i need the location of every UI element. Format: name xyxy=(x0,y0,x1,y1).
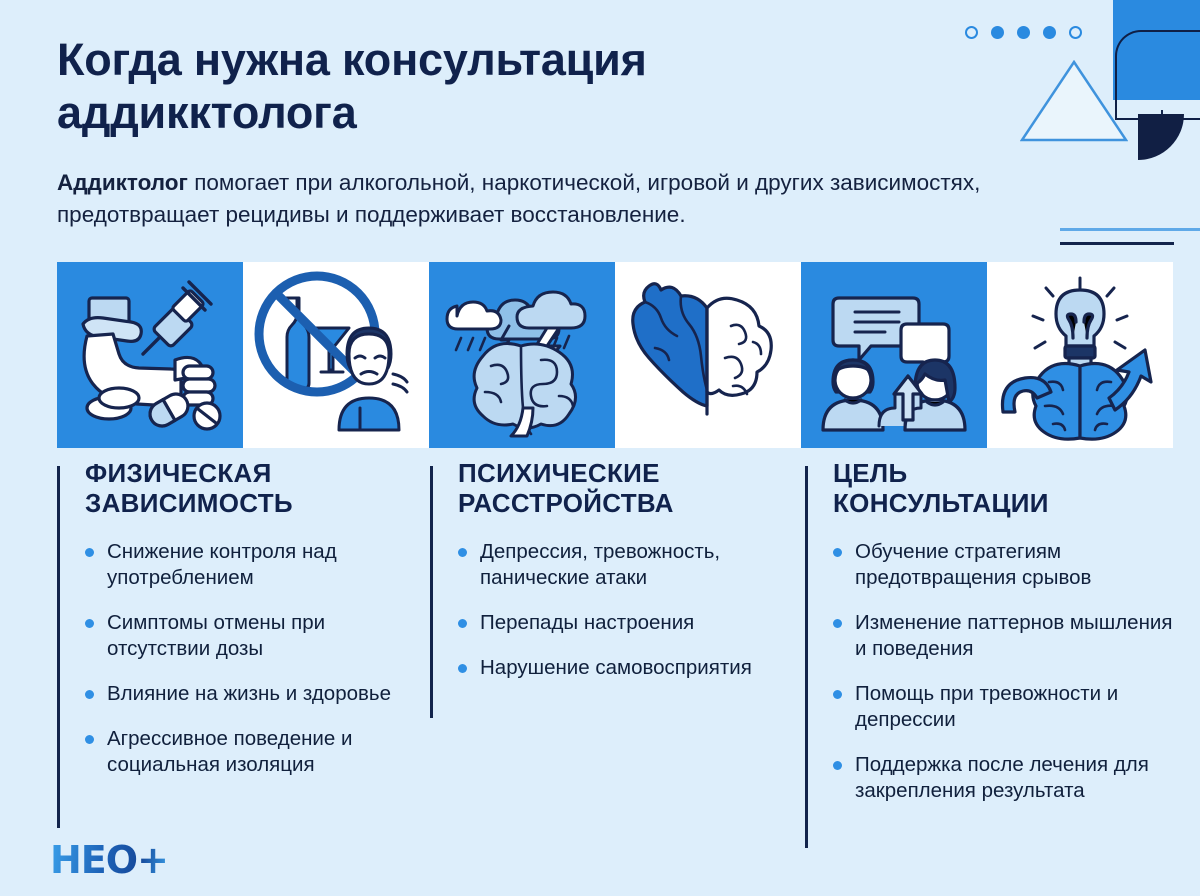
column-1: ФИЗИЧЕСКАЯЗАВИСИМОСТЬСнижение контроля н… xyxy=(57,458,417,797)
subtitle-text: помогает при алкогольной, наркотической,… xyxy=(57,170,980,227)
illustration-band xyxy=(0,262,1200,448)
list-item: Изменение паттернов мышления и поведения xyxy=(833,610,1175,662)
column-heading: ПСИХИЧЕСКИЕРАССТРОЙСТВА xyxy=(458,458,790,519)
no-alcohol-sad-person-icon xyxy=(243,262,429,448)
tile-no-alcohol-sad-person xyxy=(243,262,429,448)
column-bullet-list: Обучение стратегиям предотвращения срыво… xyxy=(833,539,1175,804)
decor-dot-4 xyxy=(1043,26,1056,39)
page-title-line-1: Когда нужна консультация xyxy=(57,34,957,87)
column-heading-line-1: ФИЗИЧЕСКАЯ xyxy=(85,458,417,488)
list-item: Поддержка после лечения для закрепления … xyxy=(833,752,1175,804)
column-divider-line xyxy=(57,466,60,828)
tile-arm-syringe-pills xyxy=(57,262,243,448)
decor-dot-5 xyxy=(1069,26,1082,39)
list-item: Перепады настроения xyxy=(458,610,790,636)
column-heading-line-2: КОНСУЛЬТАЦИИ xyxy=(833,488,1175,518)
brand-logo[interactable]: НЕО+ xyxy=(50,838,168,882)
decor-dot-3 xyxy=(1017,26,1030,39)
list-item: Депрессия, тревожность, панические атаки xyxy=(458,539,790,591)
column-body: ЦЕЛЬКОНСУЛЬТАЦИИОбучение стратегиям пред… xyxy=(805,458,1175,804)
quarter-circle-stem-decor xyxy=(1161,110,1163,135)
subtitle-keyword: Аддиктолог xyxy=(57,170,188,195)
column-heading: ФИЗИЧЕСКАЯЗАВИСИМОСТЬ xyxy=(85,458,417,519)
list-item: Помощь при тревожности и депрессии xyxy=(833,681,1175,733)
arm-syringe-pills-icon xyxy=(57,262,243,448)
list-item: Нарушение самовосприятия xyxy=(458,655,790,681)
dots-decor xyxy=(965,26,1082,39)
dark-rule-decor xyxy=(1060,242,1174,245)
column-2: ПСИХИЧЕСКИЕРАССТРОЙСТВАДепрессия, тревож… xyxy=(430,458,790,700)
tile-brain-lightbulb xyxy=(987,262,1173,448)
people-dialogue-arrow-icon xyxy=(801,262,987,448)
rounded-card-outline-decor xyxy=(1115,30,1200,120)
page-title-line-2: аддикктолога xyxy=(57,87,957,140)
column-heading: ЦЕЛЬКОНСУЛЬТАЦИИ xyxy=(833,458,1175,519)
blue-square-decor xyxy=(1113,0,1200,100)
column-bullet-list: Депрессия, тревожность, панические атаки… xyxy=(458,539,790,681)
page-header: Когда нужна консультация аддикктолога xyxy=(57,34,957,139)
tile-heart-brain xyxy=(615,262,801,448)
brain-lightbulb-arrows-icon xyxy=(987,262,1173,448)
list-item: Агрессивное поведение и социальная изоля… xyxy=(85,726,417,778)
tile-people-dialogue xyxy=(801,262,987,448)
column-3: ЦЕЛЬКОНСУЛЬТАЦИИОбучение стратегиям пред… xyxy=(805,458,1175,823)
navy-quarter-circle-decor xyxy=(1138,114,1184,160)
list-item: Обучение стратегиям предотвращения срыво… xyxy=(833,539,1175,591)
list-item: Влияние на жизнь и здоровье xyxy=(85,681,417,707)
decor-dot-2 xyxy=(991,26,1004,39)
list-item: Симптомы отмены при отсутствии дозы xyxy=(85,610,417,662)
column-heading-line-2: РАССТРОЙСТВА xyxy=(458,488,790,518)
column-bullet-list: Снижение контроля над употреблениемСимпт… xyxy=(85,539,417,778)
column-body: ФИЗИЧЕСКАЯЗАВИСИМОСТЬСнижение контроля н… xyxy=(57,458,417,778)
triangle-outline-decor xyxy=(1020,60,1128,142)
column-heading-line-2: ЗАВИСИМОСТЬ xyxy=(85,488,417,518)
page-title: Когда нужна консультация аддикктолога xyxy=(57,34,957,139)
column-heading-line-1: ЦЕЛЬ xyxy=(833,458,1175,488)
column-divider-line xyxy=(805,466,808,848)
list-item: Снижение контроля над употреблением xyxy=(85,539,417,591)
storm-cloud-brain-icon xyxy=(429,262,615,448)
tile-storm-brain xyxy=(429,262,615,448)
heart-brain-icon xyxy=(615,262,801,448)
column-divider-line xyxy=(430,466,433,718)
decor-dot-1 xyxy=(965,26,978,39)
page-subtitle: Аддиктолог помогает при алкогольной, нар… xyxy=(57,167,1117,231)
column-heading-line-1: ПСИХИЧЕСКИЕ xyxy=(458,458,790,488)
column-body: ПСИХИЧЕСКИЕРАССТРОЙСТВАДепрессия, тревож… xyxy=(430,458,790,681)
